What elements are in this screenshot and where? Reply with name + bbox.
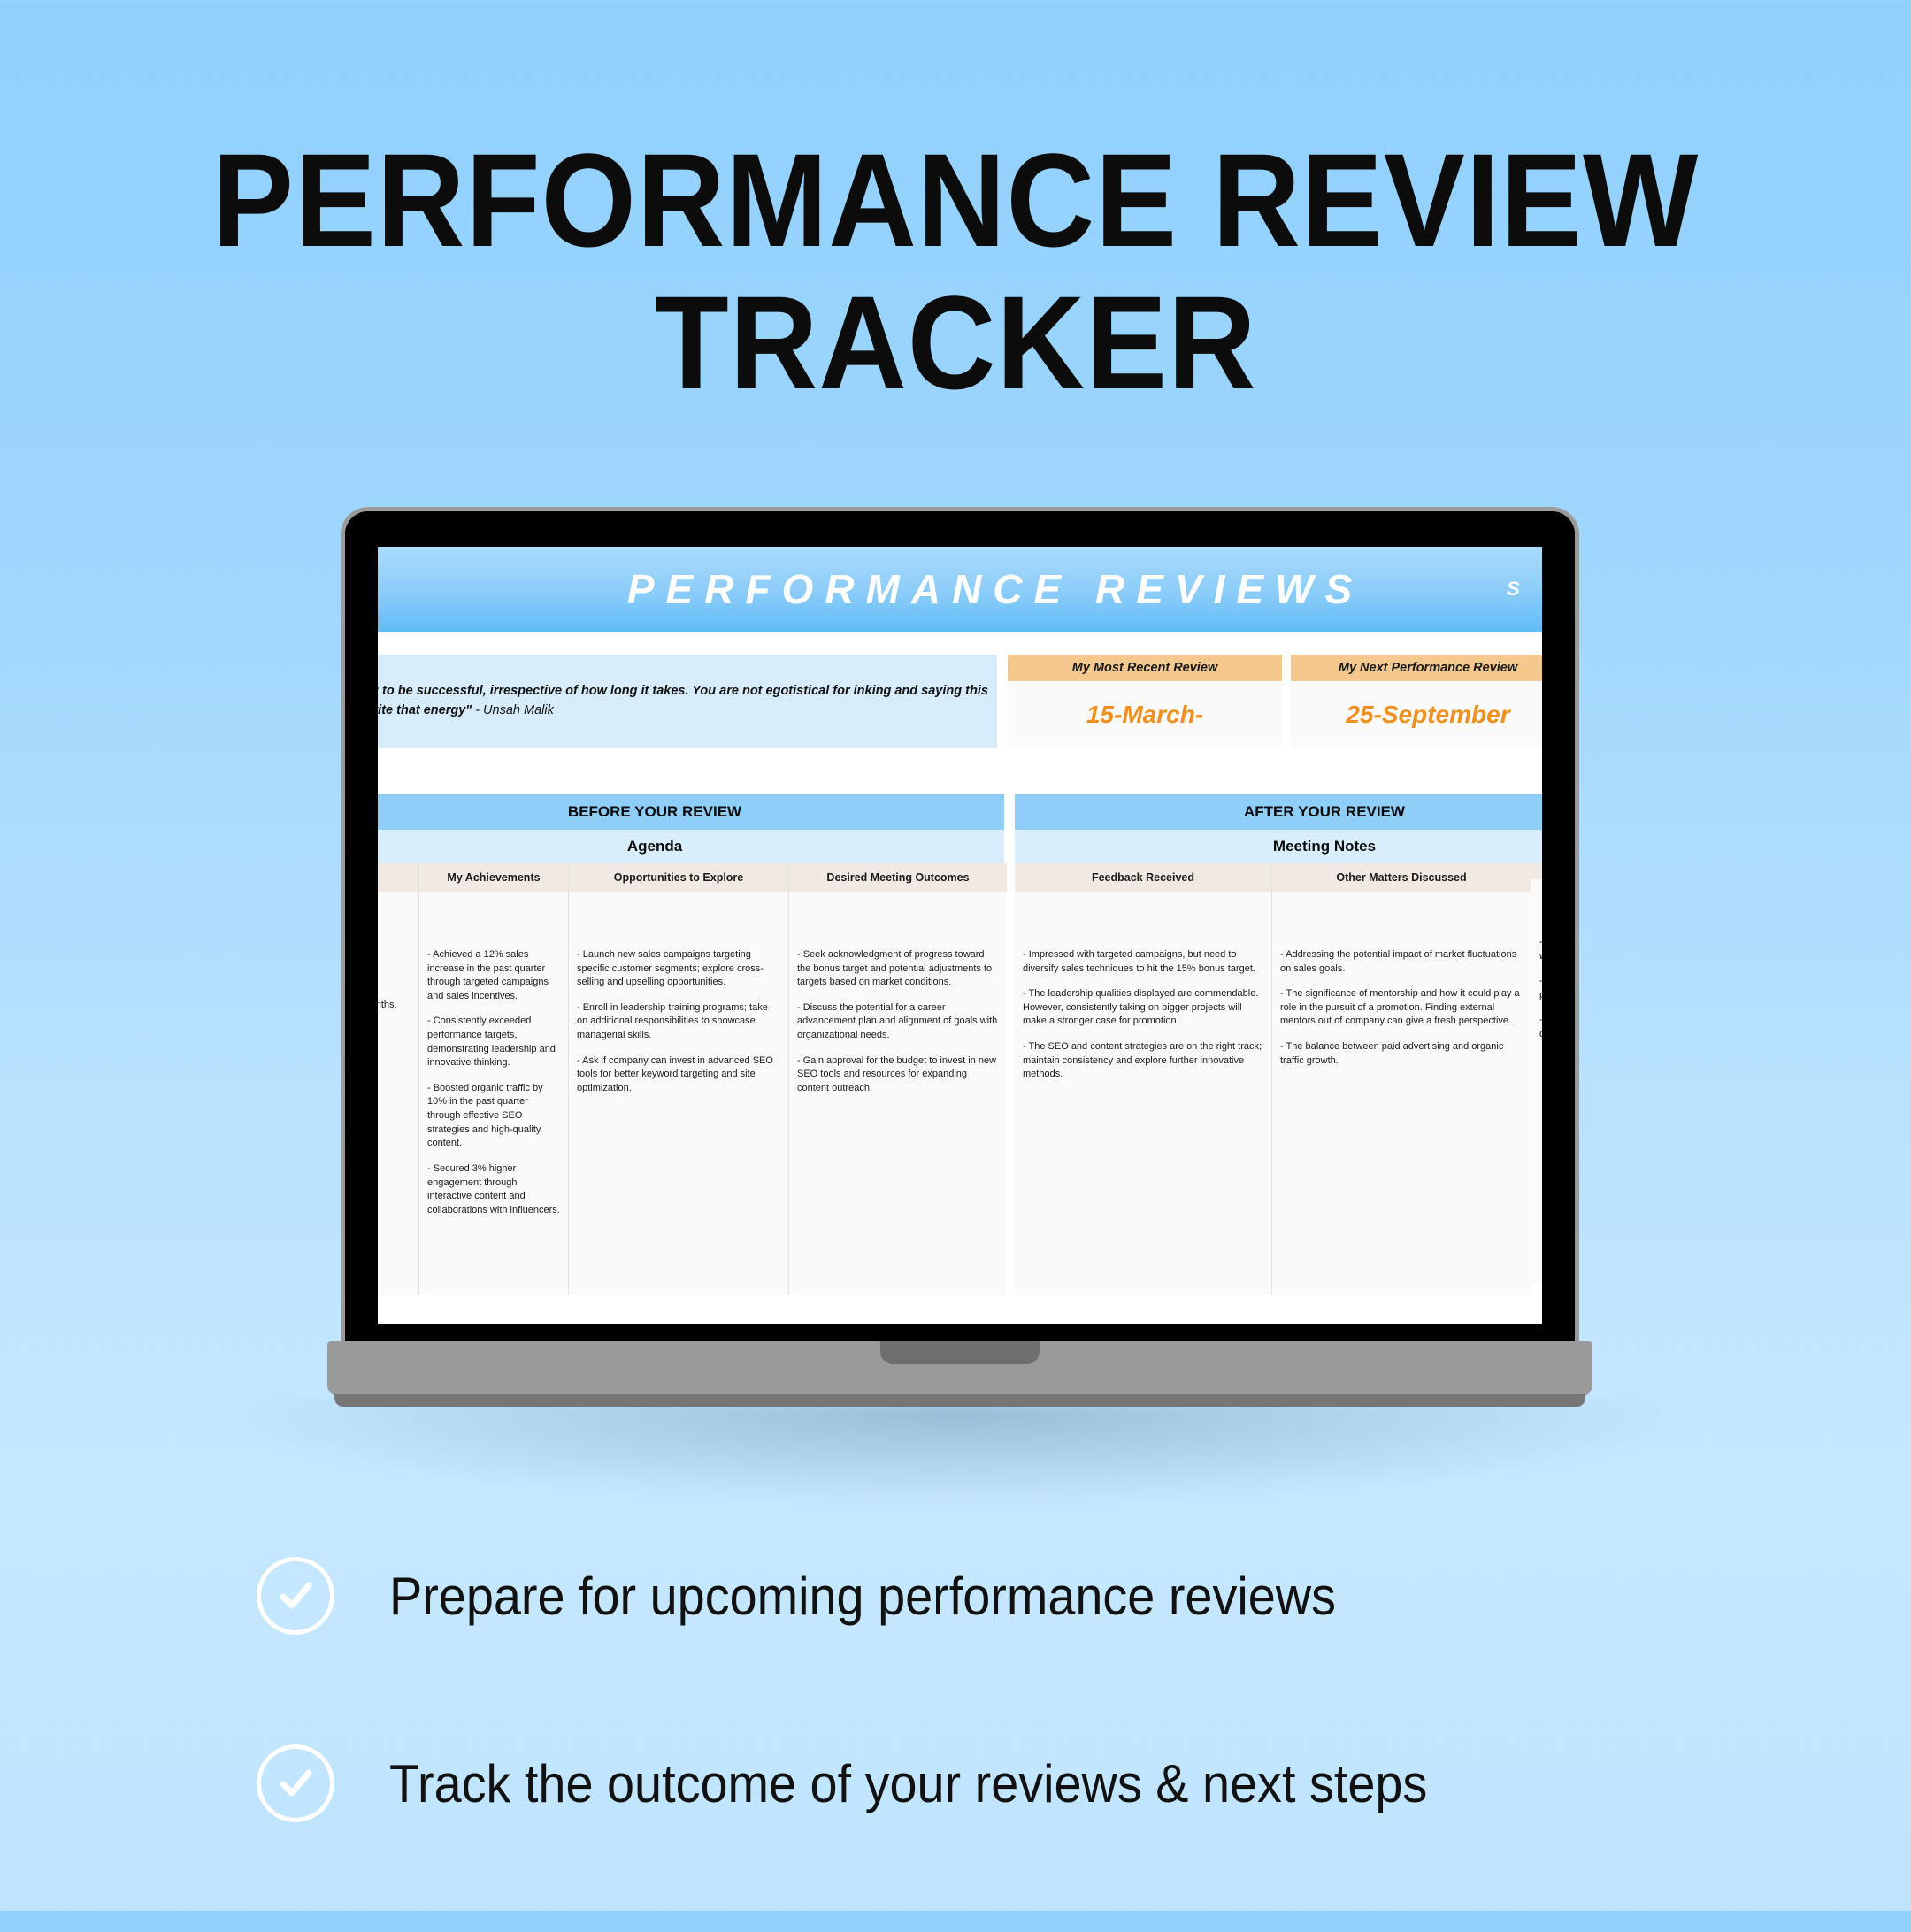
cell-paragraph: engagement (378, 1024, 411, 1039)
column-body[interactable]: - Attend a w back with po - Organize a t… (1531, 879, 1542, 1283)
date-card-next-review[interactable]: My Next Performance Review 25-September (1291, 655, 1542, 748)
cell-paragraph: - Enroll in leadership training programs… (577, 1001, 780, 1043)
cell-paragraph: - Organize a training prog (1539, 975, 1542, 1002)
cell-paragraph: site traffic by onths. (378, 999, 411, 1013)
column-goals: Goals 15% to qualify in the next site tr… (378, 863, 419, 1295)
column-header: Desired Meeting Outcomes (789, 863, 1007, 892)
cell-paragraph: - The significance of mentorship and how… (1280, 987, 1523, 1029)
column-header: Other Matters Discussed (1272, 863, 1531, 892)
column-next-steps-partial: - Attend a w back with po - Organize a t… (1531, 863, 1542, 1295)
cell-paragraph: - Seek acknowledgment of progress toward… (797, 948, 999, 990)
spreadsheet-title-right-partial: S (1507, 578, 1542, 601)
panel-after-your-review: AFTER YOUR REVIEW Meeting Notes Feedback… (1015, 794, 1542, 1295)
quote-cell: ou are going to be successful, irrespect… (378, 655, 997, 748)
review-date-cards: My Most Recent Review 15-March- My Next … (1008, 655, 1542, 748)
laptop-base (327, 1341, 1592, 1396)
feature-checklist: Prepare for upcoming performance reviews… (257, 1557, 1672, 1932)
column-body[interactable]: - Seek acknowledgment of progress toward… (789, 892, 1007, 1295)
page-title-line-2: TRACKER (76, 275, 1834, 410)
cell-paragraph: - Research a consideratio (1539, 1014, 1542, 1041)
cell-paragraph: - Gain approval for the budget to invest… (797, 1054, 999, 1096)
spacer-row-1 (378, 632, 1542, 655)
column-body[interactable]: - Addressing the potential impact of mar… (1272, 892, 1531, 1295)
checklist-item-label: Track the outcome of your reviews & next… (389, 1753, 1427, 1814)
cell-paragraph: - Launch new sales campaigns targeting s… (577, 948, 780, 990)
spreadsheet-title-bar: PERFORMANCE REVIEWS S (378, 547, 1542, 632)
laptop-mockup: PERFORMANCE REVIEWS S ou are going to be… (327, 511, 1592, 1405)
panel-before-your-review: BEFORE YOUR REVIEW Agenda Goals 15% to q… (378, 794, 1004, 1295)
after-band-title: AFTER YOUR REVIEW (1015, 794, 1542, 830)
cell-paragraph: - Attend a w back with po (1539, 936, 1542, 963)
quote-text: ou are going to be successful, irrespect… (378, 684, 988, 717)
column-body[interactable]: - Impressed with targeted campaigns, but… (1015, 892, 1271, 1295)
laptop-lid: PERFORMANCE REVIEWS S ou are going to be… (345, 511, 1575, 1347)
column-opportunities-to-explore: Opportunities to Explore - Launch new sa… (569, 863, 789, 1295)
column-header: Goals (378, 863, 418, 892)
date-card-label: My Most Recent Review (1008, 655, 1282, 681)
spreadsheet: PERFORMANCE REVIEWS S ou are going to be… (378, 547, 1542, 1324)
cell-paragraph: - Secured 3% higher engagement through i… (427, 1162, 560, 1217)
after-subband-title: Meeting Notes (1015, 830, 1542, 863)
quote-author: - Unsah Malik (472, 703, 554, 717)
page-title-line-1: PERFORMANCE REVIEW (76, 133, 1834, 268)
date-card-most-recent[interactable]: My Most Recent Review 15-March- (1008, 655, 1282, 748)
cell-paragraph: - Discuss the potential for a career adv… (797, 1001, 999, 1043)
before-subband-title: Agenda (378, 830, 1004, 863)
cell-paragraph: - The leadership qualities displayed are… (1023, 987, 1263, 1029)
column-desired-meeting-outcomes: Desired Meeting Outcomes - Seek acknowle… (789, 863, 1007, 1295)
column-body[interactable]: - Launch new sales campaigns targeting s… (569, 892, 788, 1295)
cell-paragraph: - Addressing the potential impact of mar… (1280, 948, 1523, 976)
quote-text-wrapper: ou are going to be successful, irrespect… (378, 682, 997, 721)
column-other-matters-discussed: Other Matters Discussed - Addressing the… (1272, 863, 1531, 1295)
column-header: Opportunities to Explore (569, 863, 788, 892)
spreadsheet-title: PERFORMANCE REVIEWS (378, 565, 1507, 613)
column-feedback-received: Feedback Received - Impressed with targe… (1015, 863, 1272, 1295)
column-header (1531, 863, 1542, 879)
cell-paragraph: in the next (378, 974, 411, 988)
laptop-notch (880, 1341, 1040, 1364)
checklist-item: Prepare for upcoming performance reviews (257, 1557, 1672, 1635)
laptop-screen: PERFORMANCE REVIEWS S ou are going to be… (378, 547, 1542, 1324)
spacer-row-2 (378, 748, 1542, 794)
cell-paragraph: - Achieved a 12% sales increase in the p… (427, 948, 560, 1003)
date-card-value[interactable]: 25-September (1291, 681, 1542, 748)
page-title: PERFORMANCE REVIEW TRACKER (0, 133, 1911, 410)
cell-paragraph: - Ask if company can invest in advanced … (577, 1054, 780, 1096)
column-header: My Achievements (419, 863, 568, 892)
column-body[interactable]: - Achieved a 12% sales increase in the p… (419, 892, 568, 1295)
quote-and-dates-row: ou are going to be successful, irrespect… (378, 655, 1542, 748)
date-card-value[interactable]: 15-March- (1008, 681, 1282, 748)
column-my-achievements: My Achievements - Achieved a 12% sales i… (419, 863, 569, 1295)
check-circle-icon (257, 1744, 334, 1822)
laptop-bezel-top (345, 511, 1575, 547)
checklist-item-label: Prepare for upcoming performance reviews (389, 1566, 1336, 1627)
laptop-shadow (203, 1402, 1708, 1508)
before-columns: Goals 15% to qualify in the next site tr… (378, 863, 1004, 1295)
date-card-label: My Next Performance Review (1291, 655, 1542, 681)
before-band-title: BEFORE YOUR REVIEW (378, 794, 1004, 830)
review-panels: BEFORE YOUR REVIEW Agenda Goals 15% to q… (378, 794, 1542, 1295)
after-columns: Feedback Received - Impressed with targe… (1015, 863, 1542, 1295)
cell-paragraph: - The SEO and content strategies are on … (1023, 1040, 1263, 1082)
cell-paragraph: - The balance between paid advertising a… (1280, 1040, 1523, 1068)
cell-paragraph: - Consistently exceeded performance targ… (427, 1015, 560, 1069)
checklist-item: Track the outcome of your reviews & next… (257, 1744, 1672, 1822)
cell-paragraph: - Boosted organic traffic by 10% in the … (427, 1082, 560, 1151)
cell-paragraph: - Impressed with targeted campaigns, but… (1023, 948, 1263, 976)
column-header: Feedback Received (1015, 863, 1271, 892)
check-circle-icon (257, 1557, 334, 1635)
column-body[interactable]: 15% to qualify in the next site traffic … (378, 892, 418, 1295)
cell-paragraph: 15% to qualify (378, 948, 411, 962)
